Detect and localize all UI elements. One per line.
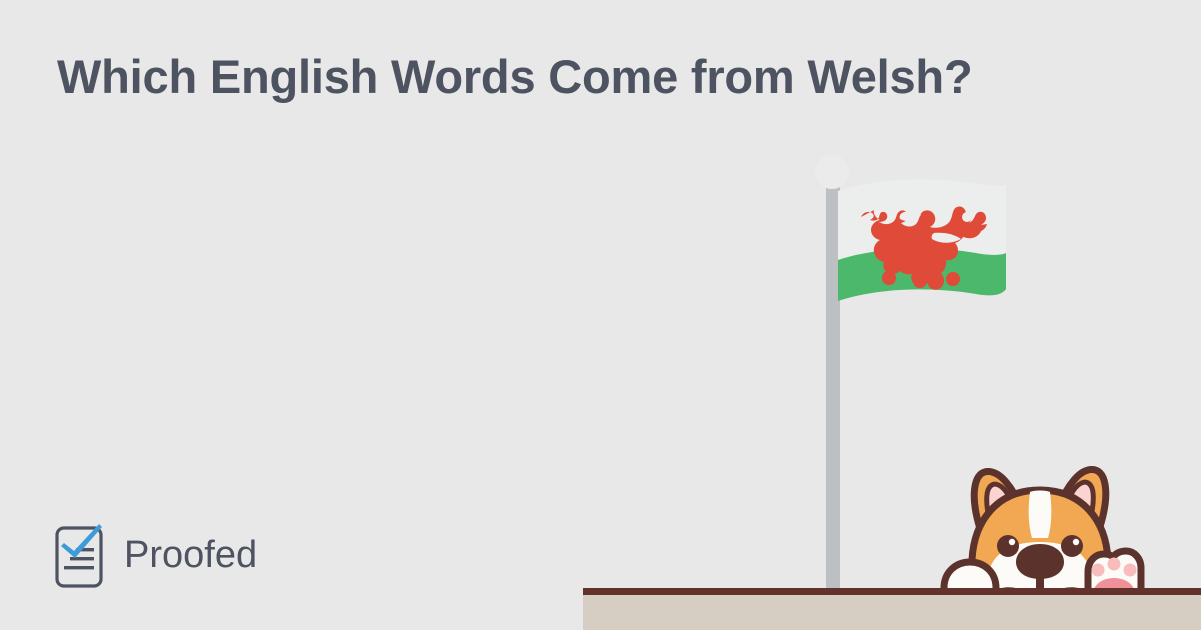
brand-wordmark: Proofed — [124, 536, 257, 578]
corgi-left-eye — [997, 535, 1019, 557]
corgi-paw-toe-pad-3 — [1124, 564, 1137, 577]
corgi-left-eye-highlight — [1009, 539, 1015, 545]
proofed-document-check-logo-icon — [50, 524, 108, 590]
wall-ledge — [583, 588, 1201, 630]
corgi-right-eye-highlight — [1073, 539, 1079, 545]
page-title: Which English Words Come from Welsh? — [57, 49, 1057, 104]
logo-line-3 — [64, 566, 94, 569]
corgi-right-eye — [1061, 535, 1083, 557]
dragon-eye-icon — [962, 212, 972, 222]
flagpole — [826, 173, 840, 595]
corgi-paw-toe-pad-2 — [1108, 558, 1121, 571]
brand-logo[interactable]: Proofed — [50, 524, 257, 590]
flagpole-finial-icon — [815, 155, 849, 189]
logo-line-2 — [70, 557, 94, 560]
corgi-paw-toe-pad-1 — [1092, 564, 1105, 577]
corgi-forehead-blaze — [1029, 491, 1052, 539]
poster-canvas: Which English Words Come from Welsh? — [0, 0, 1201, 630]
